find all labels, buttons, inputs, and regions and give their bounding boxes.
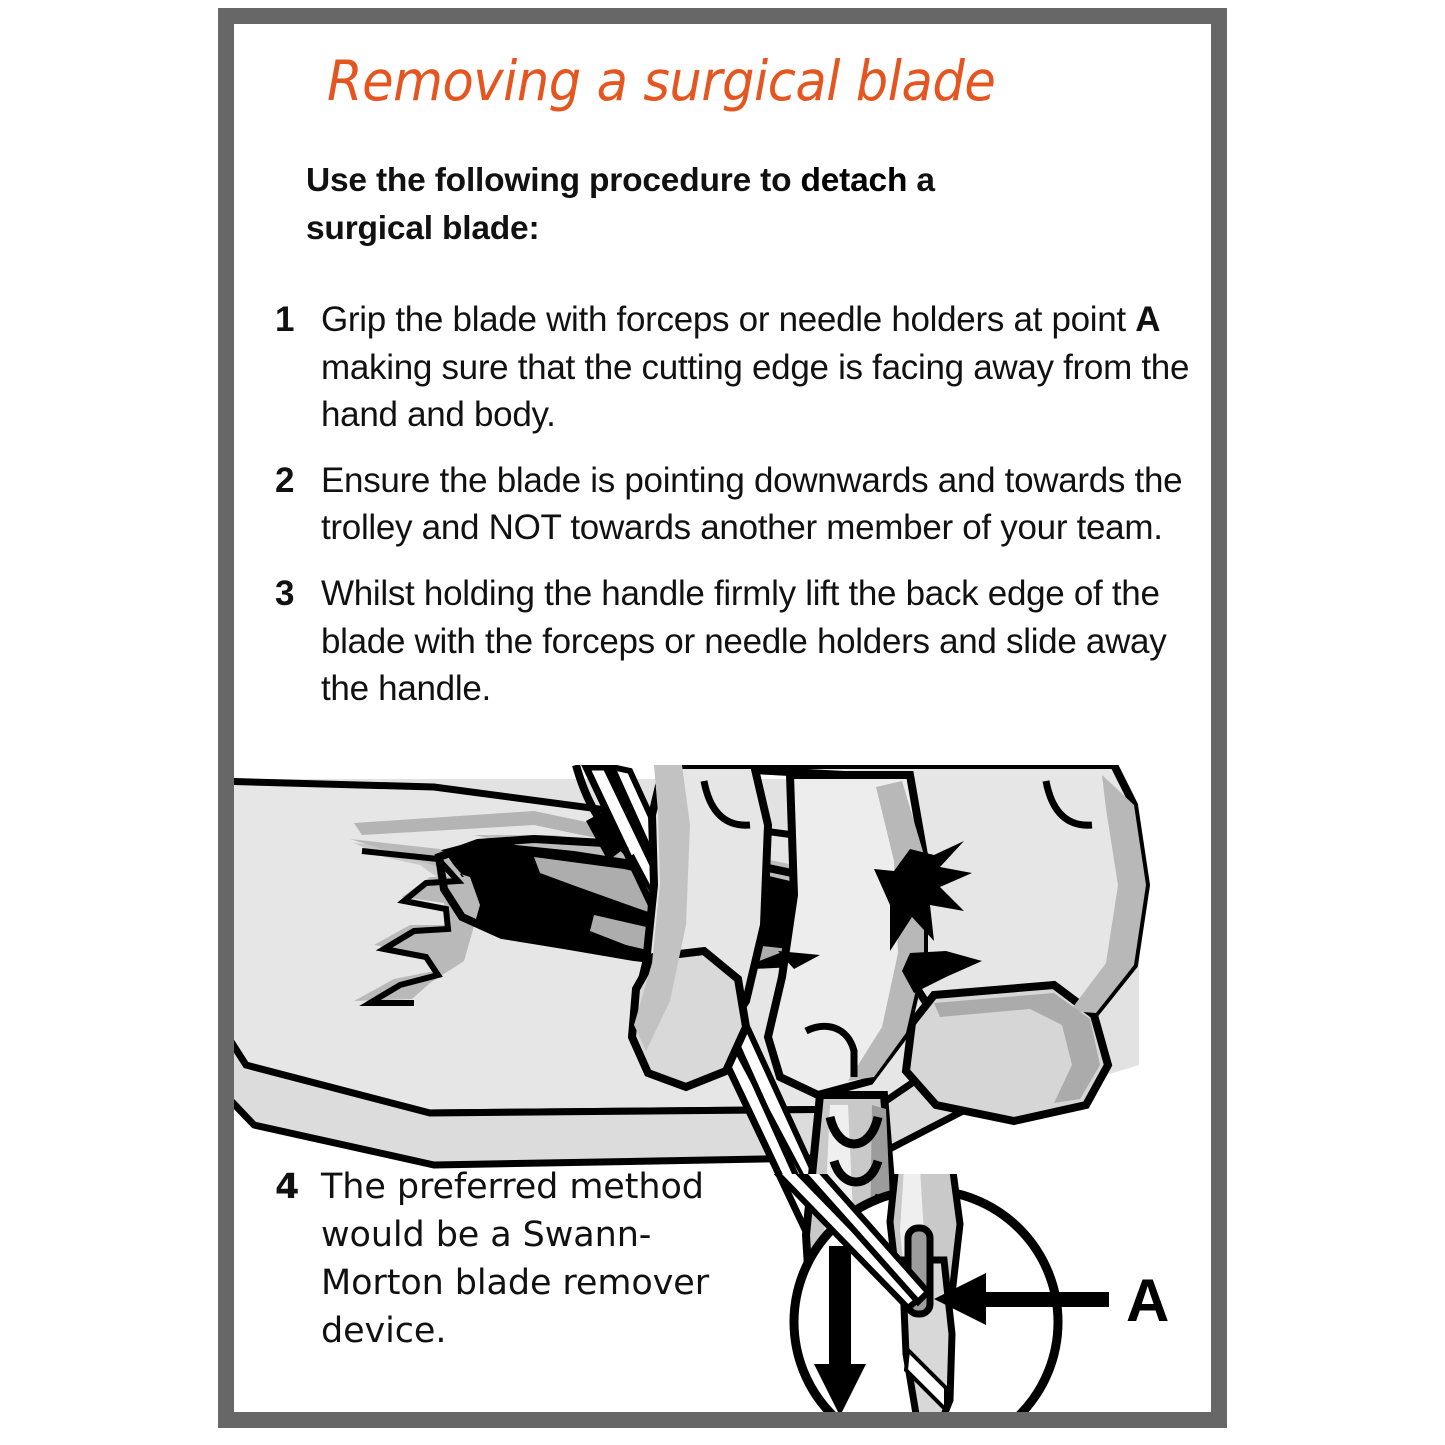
step-4-text: The preferred method would be a Swann-Mo… [321,1167,709,1351]
instruction-card-body: Removing a surgical blade Use the follow… [234,24,1211,1412]
step-3-text: Whilst holding the handle firmly lift th… [321,574,1166,708]
procedure-step-list: 1Grip the blade with forceps or needle h… [258,296,1211,731]
procedure-step-2: 2Ensure the blade is pointing downwards … [258,457,1211,552]
step-number-1: 1 [275,296,294,344]
step-number-3: 3 [275,570,294,618]
step-number-2: 2 [275,457,294,505]
detail-callout-svg: A [774,1174,1211,1412]
intro-text-emphasis: detach [800,162,907,199]
procedure-step-4: 4The preferred method would be a Swann-M… [258,1164,758,1356]
detail-callout-container: A [774,1174,1211,1412]
point-a-label: A [1126,1267,1169,1334]
procedure-step-3: 3Whilst holding the handle firmly lift t… [258,570,1211,713]
step-1-text-b: making sure that the cutting edge is fac… [321,348,1189,435]
instruction-card-frame: Removing a surgical blade Use the follow… [218,8,1227,1428]
step-1-emphasis: A [1135,300,1160,339]
intro-paragraph: Use the following procedure to detach a … [306,157,1066,253]
step-number-4: 4 [275,1164,299,1212]
step-2-text: Ensure the blade is pointing downwards a… [321,461,1182,548]
intro-text-before: Use the following procedure to [306,162,800,199]
step-1-text-a: Grip the blade with forceps or needle ho… [321,300,1135,339]
procedure-step-1: 1Grip the blade with forceps or needle h… [258,296,1211,439]
page-title: Removing a surgical blade [327,49,995,113]
poster-canvas: Removing a surgical blade Use the follow… [0,0,1445,1445]
